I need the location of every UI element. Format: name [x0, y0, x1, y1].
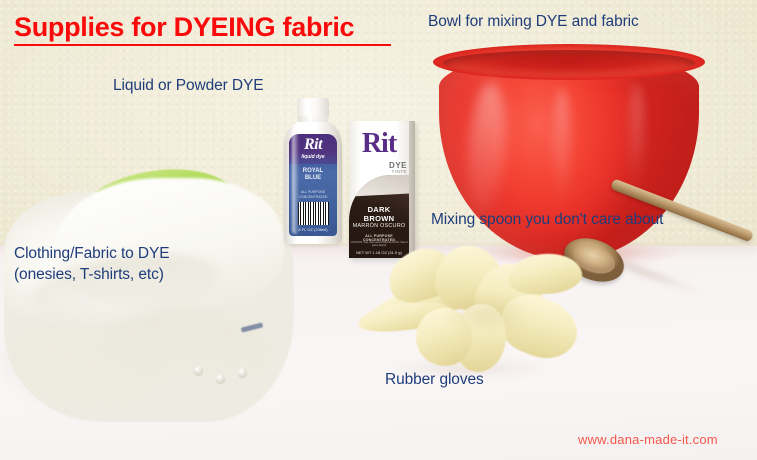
- title-underline: [14, 44, 391, 46]
- box-swoosh-highlight: [349, 175, 409, 197]
- bottle-color-line2: BLUE: [305, 175, 321, 181]
- bottle-highlight: [292, 126, 299, 234]
- label-clothing-line1: Clothing/Fabric to DYE: [14, 245, 169, 262]
- bottle-color-line1: ROYAL: [303, 168, 323, 174]
- barcode: [298, 202, 329, 225]
- box-shade-line2: BROWN: [364, 214, 395, 223]
- box-shade-line1: DARK: [368, 205, 391, 214]
- box-shade-name: DARK BROWN: [349, 205, 409, 223]
- fabric-fold: [8, 320, 158, 410]
- photo-canvas: Rit liquid dye ROYAL BLUE ALL PURPOSE CO…: [0, 0, 757, 460]
- label-gloves: Rubber gloves: [385, 371, 484, 389]
- glove-shading: [428, 286, 548, 342]
- snap-button: [194, 366, 203, 375]
- rubber-gloves: [358, 246, 588, 378]
- box-side-panel: [409, 121, 415, 258]
- bowl-interior: [443, 50, 695, 76]
- label-dye: Liquid or Powder DYE: [113, 77, 264, 95]
- bowl-highlight: [553, 88, 571, 208]
- rit-liquid-dye-bottle: Rit liquid dye ROYAL BLUE ALL PURPOSE CO…: [284, 98, 342, 244]
- bottle-cap: [297, 98, 329, 118]
- site-watermark: www.dana-made-it.com: [578, 432, 718, 447]
- rit-powder-dye-box: Rit DYE TINTE DARK BROWN MARRÓN OSCURO A…: [349, 121, 415, 258]
- box-shade-spanish: MARRÓN OSCURO: [349, 223, 409, 229]
- clothing-pile: [0, 170, 302, 438]
- bowl-highlight: [629, 84, 645, 194]
- snap-button: [216, 374, 225, 383]
- label-clothing: Clothing/Fabric to DYE (onesies, T-shirt…: [14, 243, 254, 285]
- snap-button: [238, 368, 247, 377]
- box-brand-text: Rit: [349, 127, 409, 161]
- label-spoon: Mixing spoon you don't care about: [431, 211, 663, 229]
- label-clothing-line2: (onesies, T-shirts, etc): [14, 266, 164, 283]
- label-bowl: Bowl for mixing DYE and fabric: [428, 13, 639, 31]
- box-tinte-text: TINTE: [349, 169, 407, 174]
- page-title: Supplies for DYEING fabric: [14, 12, 354, 43]
